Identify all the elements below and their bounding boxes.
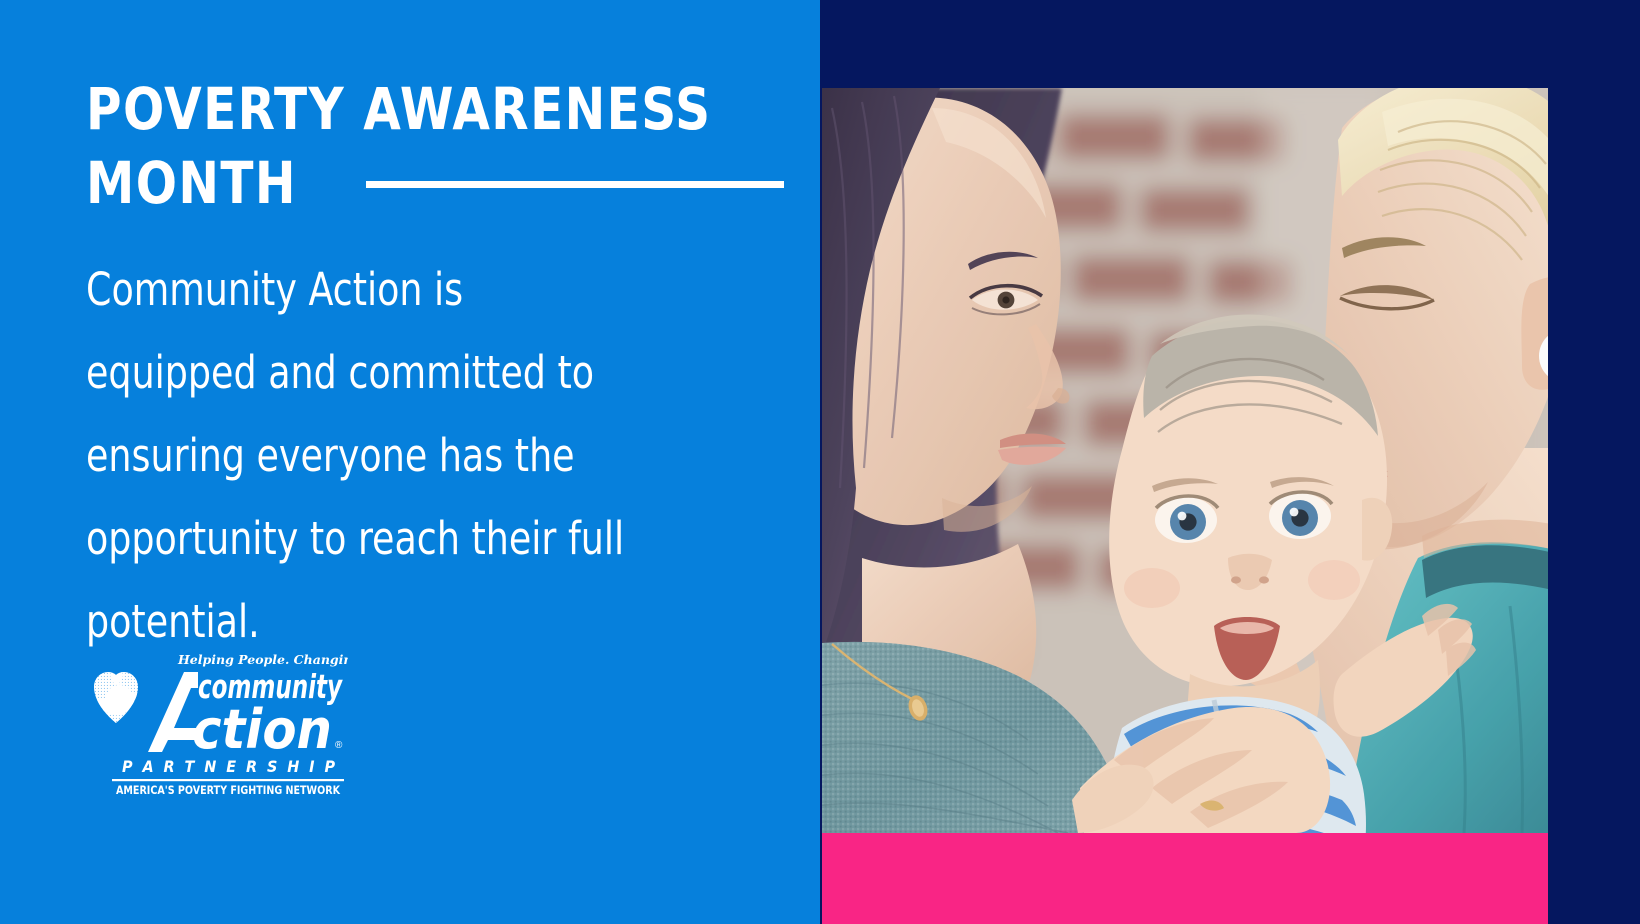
logo-tagline: Helping People. Changing Lives.	[177, 652, 348, 667]
logo-divider-rule	[112, 779, 344, 781]
page-title: POVERTY AWARENESS MONTH	[86, 72, 737, 220]
logo-letter-a	[148, 672, 198, 752]
logo-network-line: AMERICA'S POVERTY FIGHTING NETWORK	[116, 783, 341, 797]
family-photo	[822, 88, 1548, 833]
logo-word-action: ction	[192, 698, 332, 761]
headline-line-1: POVERTY AWARENESS	[86, 72, 737, 146]
logo-registered-mark: ®	[335, 740, 343, 751]
heart-embrace-icon	[94, 667, 140, 723]
left-blue-panel: POVERTY AWARENESS MONTH Community Action…	[0, 0, 820, 924]
body-copy: Community Action is equipped and committ…	[86, 248, 635, 663]
community-action-partnership-logo: Helping People. Changing Lives. communit…	[92, 648, 348, 800]
logo-partnership-word: P A R T N E R S H I P	[122, 757, 336, 776]
poster-canvas: POVERTY AWARENESS MONTH Community Action…	[0, 0, 1640, 924]
pink-accent-band	[822, 833, 1548, 924]
title-divider-rule	[366, 181, 784, 188]
